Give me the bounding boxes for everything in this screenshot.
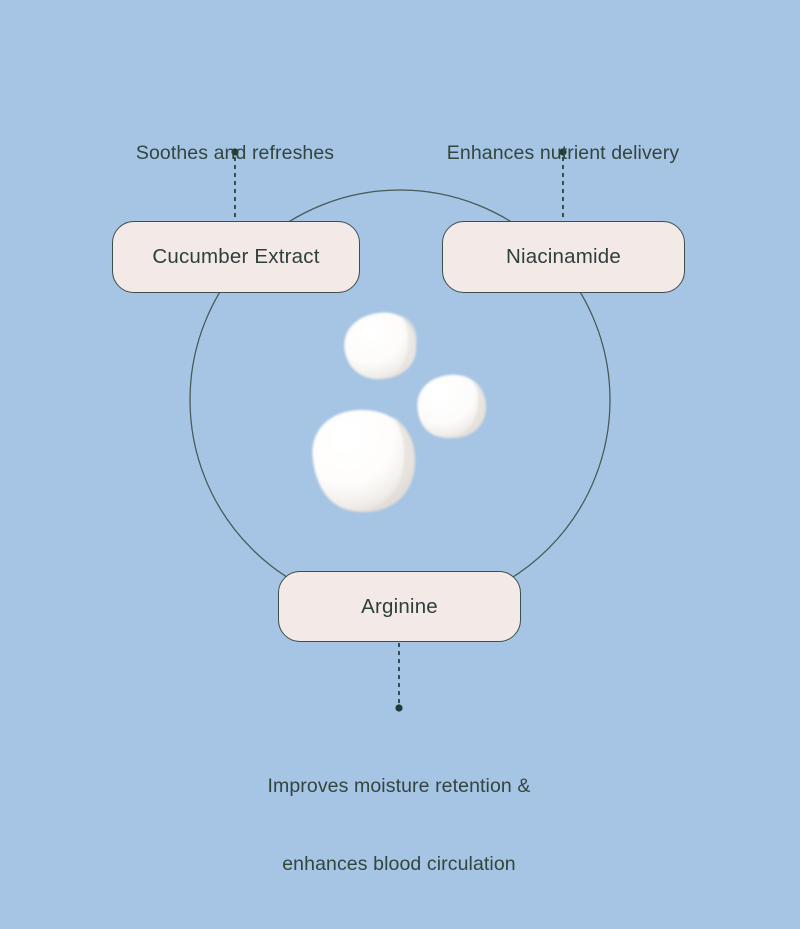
cream-blob-right <box>417 375 486 438</box>
connector-dot-arginine <box>395 704 402 711</box>
node-niacinamide[interactable]: Niacinamide <box>442 221 685 293</box>
connector-arginine <box>395 643 402 712</box>
annotation-arginine-line-1: Improves moisture retention & <box>249 773 549 799</box>
node-arginine[interactable]: Arginine <box>278 571 521 642</box>
annotation-arginine: Improves moisture retention & enhances b… <box>249 721 549 929</box>
annotation-cucumber-line-1: Soothes and refreshes <box>95 140 375 166</box>
annotation-niacinamide-line-1: Enhances nutrient delivery <box>423 140 703 166</box>
node-cucumber-extract-label: Cucumber Extract <box>152 245 319 269</box>
annotation-arginine-line-2: enhances blood circulation <box>249 851 549 877</box>
node-niacinamide-label: Niacinamide <box>506 245 621 269</box>
node-cucumber-extract[interactable]: Cucumber Extract <box>112 221 360 293</box>
cream-blob-bottom-left <box>312 410 415 512</box>
node-arginine-label: Arginine <box>361 595 438 619</box>
cream-blob-top <box>344 313 416 380</box>
infographic-canvas: Soothes and refreshes the scalp Enhances… <box>0 0 800 800</box>
